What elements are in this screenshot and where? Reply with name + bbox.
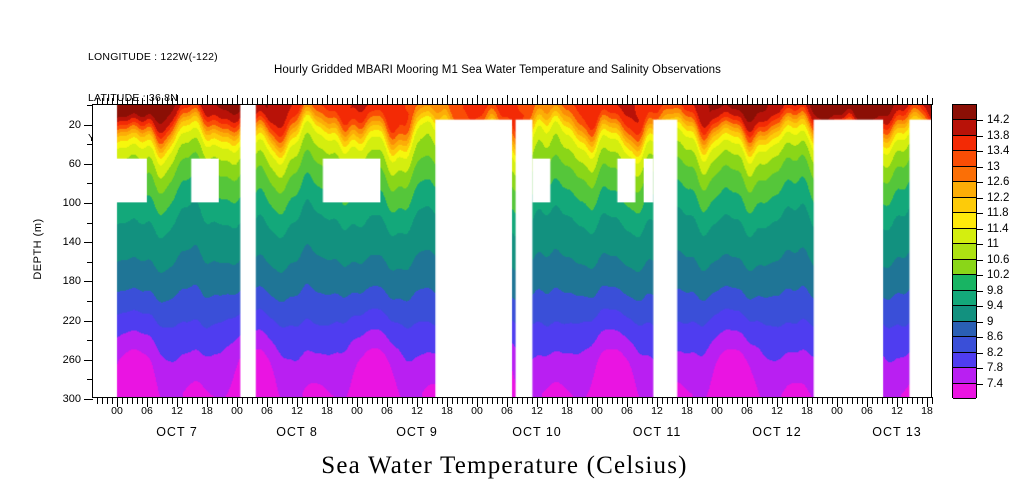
x-axis-tick (492, 397, 493, 404)
x-axis-hour-label: 06 (141, 405, 153, 417)
x-axis-tick (442, 98, 443, 105)
x-axis-tick (522, 397, 523, 404)
x-axis-tick (417, 95, 418, 105)
x-axis-tick (182, 98, 183, 105)
x-axis-tick (142, 397, 143, 404)
x-axis-tick (737, 98, 738, 105)
x-axis-tick (432, 397, 433, 404)
x-axis-tick (277, 98, 278, 105)
x-axis-tick (502, 397, 503, 404)
x-axis-tick (667, 98, 668, 105)
x-axis-tick (767, 98, 768, 105)
x-axis-hour-label: 00 (471, 405, 483, 417)
x-axis-tick (437, 98, 438, 105)
x-axis-tick (892, 98, 893, 105)
x-axis-tick (467, 397, 468, 404)
colorbar-label: 9.8 (987, 285, 1003, 297)
x-axis-tick (882, 397, 883, 404)
x-axis-tick (97, 98, 98, 105)
x-axis-tick (272, 397, 273, 404)
x-axis-tick (232, 98, 233, 105)
x-axis-tick (172, 397, 173, 404)
x-axis-tick (212, 98, 213, 105)
x-axis-tick (782, 98, 783, 105)
figure-caption: Sea Water Temperature (Celsius) (0, 452, 1009, 480)
plot-area: 2060100140180220260300000612180006121800… (92, 104, 932, 398)
x-axis-tick (527, 98, 528, 105)
x-axis-tick (287, 98, 288, 105)
x-axis-tick (887, 98, 888, 105)
x-axis-tick (402, 397, 403, 404)
x-axis-tick (677, 98, 678, 105)
x-axis-tick (787, 397, 788, 404)
y-axis-label: 180 (63, 275, 81, 287)
x-axis-tick (752, 98, 753, 105)
x-axis-tick (422, 98, 423, 105)
x-axis-tick (877, 98, 878, 105)
colorbar-label: 8.6 (987, 331, 1003, 343)
y-axis-tick (87, 340, 93, 341)
colorbar-band (953, 198, 976, 213)
x-axis-tick (407, 98, 408, 105)
x-axis-tick (917, 98, 918, 105)
x-axis-tick (412, 397, 413, 404)
colorbar-band (953, 337, 976, 352)
x-axis-hour-label: 12 (291, 405, 303, 417)
x-axis-tick (647, 98, 648, 105)
x-axis-tick (362, 98, 363, 105)
x-axis-tick (142, 98, 143, 105)
x-axis-tick (392, 397, 393, 404)
x-axis-tick (427, 98, 428, 105)
x-axis-tick (302, 397, 303, 404)
colorbar-tick (976, 291, 983, 292)
x-axis-hour-label: 18 (441, 405, 453, 417)
colorbar-label: 7.8 (987, 362, 1003, 374)
x-axis-tick (592, 98, 593, 105)
x-axis-tick (732, 98, 733, 105)
x-axis-tick (192, 98, 193, 105)
x-axis-tick (902, 98, 903, 105)
x-axis-tick (687, 95, 688, 105)
x-axis-tick (167, 98, 168, 105)
x-axis-tick (187, 397, 188, 404)
x-axis-tick (657, 95, 658, 105)
x-axis-tick (497, 98, 498, 105)
x-axis-tick (317, 98, 318, 105)
x-axis-tick (762, 98, 763, 105)
x-axis-tick (552, 397, 553, 404)
x-axis-tick (102, 397, 103, 404)
x-axis-tick (817, 397, 818, 404)
x-axis-tick (562, 98, 563, 105)
x-axis-tick (637, 397, 638, 404)
x-axis-tick (897, 95, 898, 105)
colorbar-tick (976, 182, 983, 183)
x-axis-hour-label: 12 (771, 405, 783, 417)
x-axis-tick (317, 397, 318, 404)
x-axis-tick (647, 397, 648, 404)
x-axis-tick (772, 397, 773, 404)
y-axis-tick (87, 223, 93, 224)
x-axis-hour-label: 18 (561, 405, 573, 417)
x-axis-tick (467, 98, 468, 105)
x-axis-tick (432, 98, 433, 105)
x-axis-hour-label: 18 (801, 405, 813, 417)
x-axis-tick (872, 98, 873, 105)
x-axis-tick (352, 397, 353, 404)
x-axis-tick (547, 98, 548, 105)
x-axis-day-label: OCT 7 (156, 425, 198, 439)
x-axis-tick (277, 397, 278, 404)
x-axis-hour-label: 12 (171, 405, 183, 417)
x-axis-tick (682, 397, 683, 404)
x-axis-tick (837, 95, 838, 105)
x-axis-tick (107, 397, 108, 404)
x-axis-hour-label: 18 (201, 405, 213, 417)
x-axis-tick (842, 98, 843, 105)
x-axis-tick (362, 397, 363, 404)
x-axis-tick (482, 98, 483, 105)
x-axis-tick (932, 98, 933, 105)
x-axis-day-label: OCT 11 (633, 425, 682, 439)
x-axis-tick (672, 98, 673, 105)
x-axis-hour-label: 06 (741, 405, 753, 417)
x-axis-tick (382, 397, 383, 404)
x-axis-tick (812, 98, 813, 105)
x-axis-tick (217, 397, 218, 404)
x-axis-tick (412, 98, 413, 105)
colorbar-tick (976, 213, 983, 214)
x-axis-hour-label: 06 (861, 405, 873, 417)
y-axis-tick (84, 164, 93, 165)
x-axis-tick (567, 95, 568, 105)
x-axis-tick (442, 397, 443, 404)
colorbar-band (953, 260, 976, 275)
x-axis-tick (487, 98, 488, 105)
x-axis-tick (292, 397, 293, 404)
y-axis-title: DEPTH (m) (32, 218, 44, 279)
x-axis-tick (197, 98, 198, 105)
x-axis-tick (662, 98, 663, 105)
x-axis-tick (322, 397, 323, 404)
x-axis-tick (622, 98, 623, 105)
colorbar-tick (976, 353, 983, 354)
temperature-heatmap (93, 105, 931, 397)
x-axis-tick (202, 397, 203, 404)
x-axis-tick (742, 397, 743, 404)
colorbar-band (953, 229, 976, 244)
x-axis-hour-label: 00 (111, 405, 123, 417)
x-axis-tick (887, 397, 888, 404)
colorbar-tick (976, 136, 983, 137)
colorbar-tick (976, 384, 983, 385)
x-axis-tick (727, 397, 728, 404)
x-axis-tick (822, 397, 823, 404)
colorbar-band (953, 120, 976, 135)
colorbar-tick (976, 120, 983, 121)
x-axis-tick (587, 98, 588, 105)
x-axis-tick (812, 397, 813, 404)
x-axis-tick (212, 397, 213, 404)
colorbar-tick (976, 337, 983, 338)
x-axis-tick (932, 397, 933, 404)
x-axis-tick (547, 397, 548, 404)
colorbar-tick (976, 322, 983, 323)
x-axis-tick (852, 98, 853, 105)
x-axis-day-label: OCT 12 (752, 425, 802, 439)
x-axis-tick (642, 98, 643, 105)
x-axis-hour-label: 12 (531, 405, 543, 417)
x-axis-tick (287, 397, 288, 404)
x-axis-tick (257, 397, 258, 404)
x-axis-tick (892, 397, 893, 404)
x-axis-tick (827, 397, 828, 404)
y-axis-tick (84, 281, 93, 282)
y-axis-tick (84, 360, 93, 361)
x-axis-tick (882, 98, 883, 105)
x-axis-tick (122, 397, 123, 404)
x-axis-tick (152, 397, 153, 404)
y-axis-label: 20 (69, 119, 81, 131)
x-axis-tick (312, 98, 313, 105)
x-axis-tick (437, 397, 438, 404)
colorbar-label: 13.8 (987, 130, 1009, 142)
x-axis-hour-label: 18 (921, 405, 933, 417)
x-axis-tick (377, 397, 378, 404)
x-axis-tick (392, 98, 393, 105)
x-axis-tick (847, 397, 848, 404)
y-axis-tick (84, 399, 93, 400)
x-axis-tick (522, 98, 523, 105)
x-axis-tick (152, 98, 153, 105)
x-axis-tick (572, 397, 573, 404)
x-axis-tick (397, 98, 398, 105)
x-axis-tick (742, 98, 743, 105)
x-axis-tick (102, 98, 103, 105)
x-axis-tick (487, 397, 488, 404)
x-axis-tick (457, 397, 458, 404)
x-axis-tick (862, 397, 863, 404)
colorbar-tick (976, 167, 983, 168)
x-axis-tick (447, 95, 448, 105)
colorbar-tick (976, 151, 983, 152)
x-axis-tick (747, 95, 748, 105)
x-axis-tick (132, 397, 133, 404)
colorbar-label: 14.2 (987, 114, 1009, 126)
x-axis-tick (387, 95, 388, 105)
chart-title: Hourly Gridded MBARI Mooring M1 Sea Wate… (0, 64, 1009, 76)
x-axis-tick (512, 98, 513, 105)
x-axis-hour-label: 00 (351, 405, 363, 417)
x-axis-tick (372, 98, 373, 105)
colorbar-label: 13.4 (987, 145, 1009, 157)
x-axis-tick (202, 98, 203, 105)
x-axis-tick (347, 98, 348, 105)
x-axis-tick (702, 98, 703, 105)
x-axis-tick (557, 397, 558, 404)
x-axis-hour-label: 00 (711, 405, 723, 417)
x-axis-tick (367, 98, 368, 105)
x-axis-tick (332, 397, 333, 404)
x-axis-tick (607, 98, 608, 105)
x-axis-day-label: OCT 10 (512, 425, 562, 439)
x-axis-tick (377, 98, 378, 105)
x-axis-tick (672, 397, 673, 404)
x-axis-hour-label: 00 (591, 405, 603, 417)
x-axis-tick (577, 98, 578, 105)
x-axis-tick (757, 397, 758, 404)
x-axis-tick (137, 397, 138, 404)
colorbar-label: 13 (987, 161, 1000, 173)
x-axis-tick (542, 397, 543, 404)
x-axis-tick (302, 98, 303, 105)
x-axis-tick (697, 98, 698, 105)
x-axis-tick (257, 98, 258, 105)
x-axis-tick (832, 98, 833, 105)
x-axis-tick (752, 397, 753, 404)
x-axis-tick (797, 397, 798, 404)
x-axis-tick (132, 98, 133, 105)
x-axis-hour-label: 00 (831, 405, 843, 417)
x-axis-tick (622, 397, 623, 404)
x-axis-tick (337, 397, 338, 404)
longitude-text: LONGITUDE : 122W(-122) (88, 51, 218, 65)
x-axis-tick (217, 98, 218, 105)
colorbar-label: 11.4 (987, 223, 1009, 235)
colorbar-label: 10.2 (987, 269, 1009, 281)
colorbar-tick (976, 275, 983, 276)
x-axis-tick (262, 98, 263, 105)
x-axis-tick (112, 98, 113, 105)
x-axis-tick (282, 98, 283, 105)
colorbar-band (953, 275, 976, 290)
x-axis-tick (227, 98, 228, 105)
x-axis-tick (422, 397, 423, 404)
y-axis-tick (84, 203, 93, 204)
x-axis-tick (427, 397, 428, 404)
x-axis-tick (707, 397, 708, 404)
x-axis-tick (157, 397, 158, 404)
x-axis-tick (557, 98, 558, 105)
x-axis-tick (617, 397, 618, 404)
x-axis-tick (232, 397, 233, 404)
x-axis-tick (872, 397, 873, 404)
x-axis-hour-label: 12 (891, 405, 903, 417)
x-axis-tick (107, 98, 108, 105)
colorbar-band (953, 105, 976, 120)
colorbar-label: 8.2 (987, 347, 1003, 359)
x-axis-tick (772, 98, 773, 105)
colorbar-label: 10.6 (987, 254, 1009, 266)
y-axis-label: 60 (69, 158, 81, 170)
x-axis-tick (147, 95, 148, 105)
colorbar-tick (976, 306, 983, 307)
x-axis-tick (802, 98, 803, 105)
x-axis-tick (262, 397, 263, 404)
x-axis-tick (452, 397, 453, 404)
x-axis-hour-label: 06 (381, 405, 393, 417)
x-axis-tick (572, 98, 573, 105)
x-axis-hour-label: 06 (621, 405, 633, 417)
x-axis-tick (727, 98, 728, 105)
x-axis-tick (637, 98, 638, 105)
y-axis-label: 220 (63, 315, 81, 327)
x-axis-tick (587, 397, 588, 404)
x-axis-tick (272, 98, 273, 105)
x-axis-tick (502, 98, 503, 105)
x-axis-tick (832, 397, 833, 404)
x-axis-tick (472, 98, 473, 105)
x-axis-tick (307, 397, 308, 404)
x-axis-tick (382, 98, 383, 105)
y-axis-tick (84, 242, 93, 243)
y-axis-label: 140 (63, 236, 81, 248)
colorbar-band (953, 353, 976, 368)
x-axis-tick (347, 397, 348, 404)
x-axis-tick (192, 397, 193, 404)
colorbar-band (953, 136, 976, 151)
x-axis-tick (867, 95, 868, 105)
y-axis-label: 300 (63, 393, 81, 405)
x-axis-tick (222, 98, 223, 105)
x-axis-tick (492, 98, 493, 105)
x-axis-tick (402, 98, 403, 105)
x-axis-tick (532, 98, 533, 105)
x-axis-tick (612, 98, 613, 105)
chart-title-text: Hourly Gridded MBARI Mooring M1 Sea Wate… (274, 64, 721, 76)
x-axis-hour-label: 18 (681, 405, 693, 417)
x-axis-tick (187, 98, 188, 105)
x-axis-tick (787, 98, 788, 105)
x-axis-tick (627, 95, 628, 105)
x-axis-tick (282, 397, 283, 404)
x-axis-day-label: OCT 9 (396, 425, 438, 439)
x-axis-tick (797, 98, 798, 105)
x-axis-tick (127, 98, 128, 105)
x-axis-tick (767, 397, 768, 404)
colorbar-label: 7.4 (987, 378, 1003, 390)
x-axis-tick (732, 397, 733, 404)
x-axis-tick (902, 397, 903, 404)
x-axis-tick (97, 397, 98, 404)
x-axis-tick (207, 95, 208, 105)
x-axis-tick (612, 397, 613, 404)
x-axis-tick (737, 397, 738, 404)
y-axis-tick (87, 379, 93, 380)
x-axis-tick (852, 397, 853, 404)
colorbar-band (953, 368, 976, 383)
y-axis-tick (87, 262, 93, 263)
x-axis-tick (117, 95, 118, 105)
colorbar-band (953, 322, 976, 337)
y-axis-tick (87, 105, 93, 106)
x-axis-tick (482, 397, 483, 404)
x-axis-hour-label: 00 (231, 405, 243, 417)
x-axis-tick (632, 98, 633, 105)
x-axis-tick (722, 98, 723, 105)
colorbar-band (953, 213, 976, 228)
y-axis-tick (84, 125, 93, 126)
x-axis-tick (162, 397, 163, 404)
x-axis-tick (297, 95, 298, 105)
x-axis-tick (907, 397, 908, 404)
x-axis-tick (247, 397, 248, 404)
x-axis-tick (562, 397, 563, 404)
x-axis-tick (157, 98, 158, 105)
x-axis-tick (507, 95, 508, 105)
x-axis-tick (707, 98, 708, 105)
